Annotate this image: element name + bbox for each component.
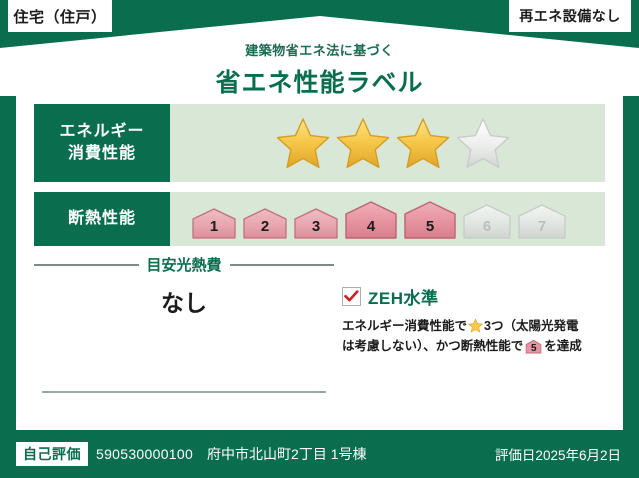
star-rating (275, 116, 511, 170)
insulation-grade-1: 1 (190, 204, 238, 240)
zeh-checkbox[interactable] (342, 287, 361, 306)
utility-cost-heading: 目安光熱費 (34, 254, 334, 275)
footer-address: 府中市北山町2丁目 1号棟 (207, 444, 366, 464)
insulation-performance-value: 1 2 3 (170, 192, 605, 246)
title-main: 省エネ性能ラベル (0, 63, 639, 99)
insulation-performance-row: 断熱性能 1 (34, 192, 605, 246)
zeh-desc-part2: は考慮しない）、かつ断熱性能で (342, 339, 523, 353)
zeh-desc-part3: を達成 (544, 339, 582, 353)
zeh-section: ZEH水準 エネルギー消費性能で3つ（太陽光発電は考慮しない）、かつ断熱性能で5… (342, 284, 608, 357)
inline-grade-label: 5 (525, 344, 542, 354)
energy-performance-label-box: エネルギー 消費性能 (34, 104, 170, 182)
footer-id: 590530000100 (96, 446, 193, 462)
inline-grade-badge: 5 (525, 338, 542, 354)
zeh-description: エネルギー消費性能で3つ（太陽光発電は考慮しない）、かつ断熱性能で5を達成 (342, 316, 608, 357)
energy-label-line1: エネルギー (59, 121, 144, 143)
badge-renewable-equipment: 再エネ設備なし (509, 0, 631, 32)
insulation-grade-6: 6 (461, 201, 513, 240)
self-evaluation-badge: 自己評価 (16, 442, 88, 466)
utility-cost-heading-label: 目安光熱費 (147, 254, 222, 275)
zeh-desc-stars: 3つ（太陽光発電 (484, 319, 578, 333)
star-icon-filled-1 (275, 116, 331, 170)
badge-renewable-equipment-label: 再エネ設備なし (519, 6, 621, 26)
insulation-grade-scale: 1 2 3 (190, 198, 568, 240)
insulation-grade-2: 2 (241, 204, 289, 240)
zeh-heading: ZEH水準 (342, 284, 608, 309)
energy-performance-label: 住宅（住戸） 再エネ設備なし 建築物省エネ法に基づく 省エネ性能ラベル エネルギ… (0, 0, 639, 478)
energy-performance-value (170, 104, 605, 182)
insulation-grade-5: 5 (402, 198, 458, 240)
cost-rule-right (230, 264, 335, 266)
inline-star-icon (468, 318, 483, 333)
insulation-grade-4: 4 (343, 198, 399, 240)
star-icon-filled-2 (335, 116, 391, 170)
footer-left-group: 自己評価 590530000100 府中市北山町2丁目 1号棟 (0, 442, 367, 466)
check-icon (344, 290, 359, 303)
cost-divider (42, 391, 326, 393)
insulation-grade-3: 3 (292, 204, 340, 240)
star-icon-filled-3 (395, 116, 451, 170)
energy-performance-row: エネルギー 消費性能 (34, 104, 605, 182)
zeh-desc-part1: エネルギー消費性能で (342, 319, 467, 333)
label-footer: 自己評価 590530000100 府中市北山町2丁目 1号棟 評価日2025年… (0, 430, 639, 478)
badge-building-type-label: 住宅（住戸） (13, 6, 106, 27)
cost-rule-left (34, 264, 139, 266)
badge-building-type: 住宅（住戸） (8, 0, 112, 32)
title-subtitle: 建築物省エネ法に基づく (0, 40, 639, 59)
zeh-title: ZEH水準 (368, 284, 439, 309)
label-card: エネルギー 消費性能 (16, 88, 623, 430)
insulation-grade-7: 7 (516, 201, 568, 240)
insulation-label: 断熱性能 (68, 208, 136, 230)
footer-evaluation-date: 評価日2025年6月2日 (495, 444, 639, 464)
label-title: 建築物省エネ法に基づく 省エネ性能ラベル (0, 40, 639, 99)
insulation-performance-label-box: 断熱性能 (34, 192, 170, 246)
utility-cost-value: なし (34, 284, 334, 318)
energy-label-line2: 消費性能 (68, 143, 136, 165)
star-icon-empty-4 (455, 116, 511, 170)
